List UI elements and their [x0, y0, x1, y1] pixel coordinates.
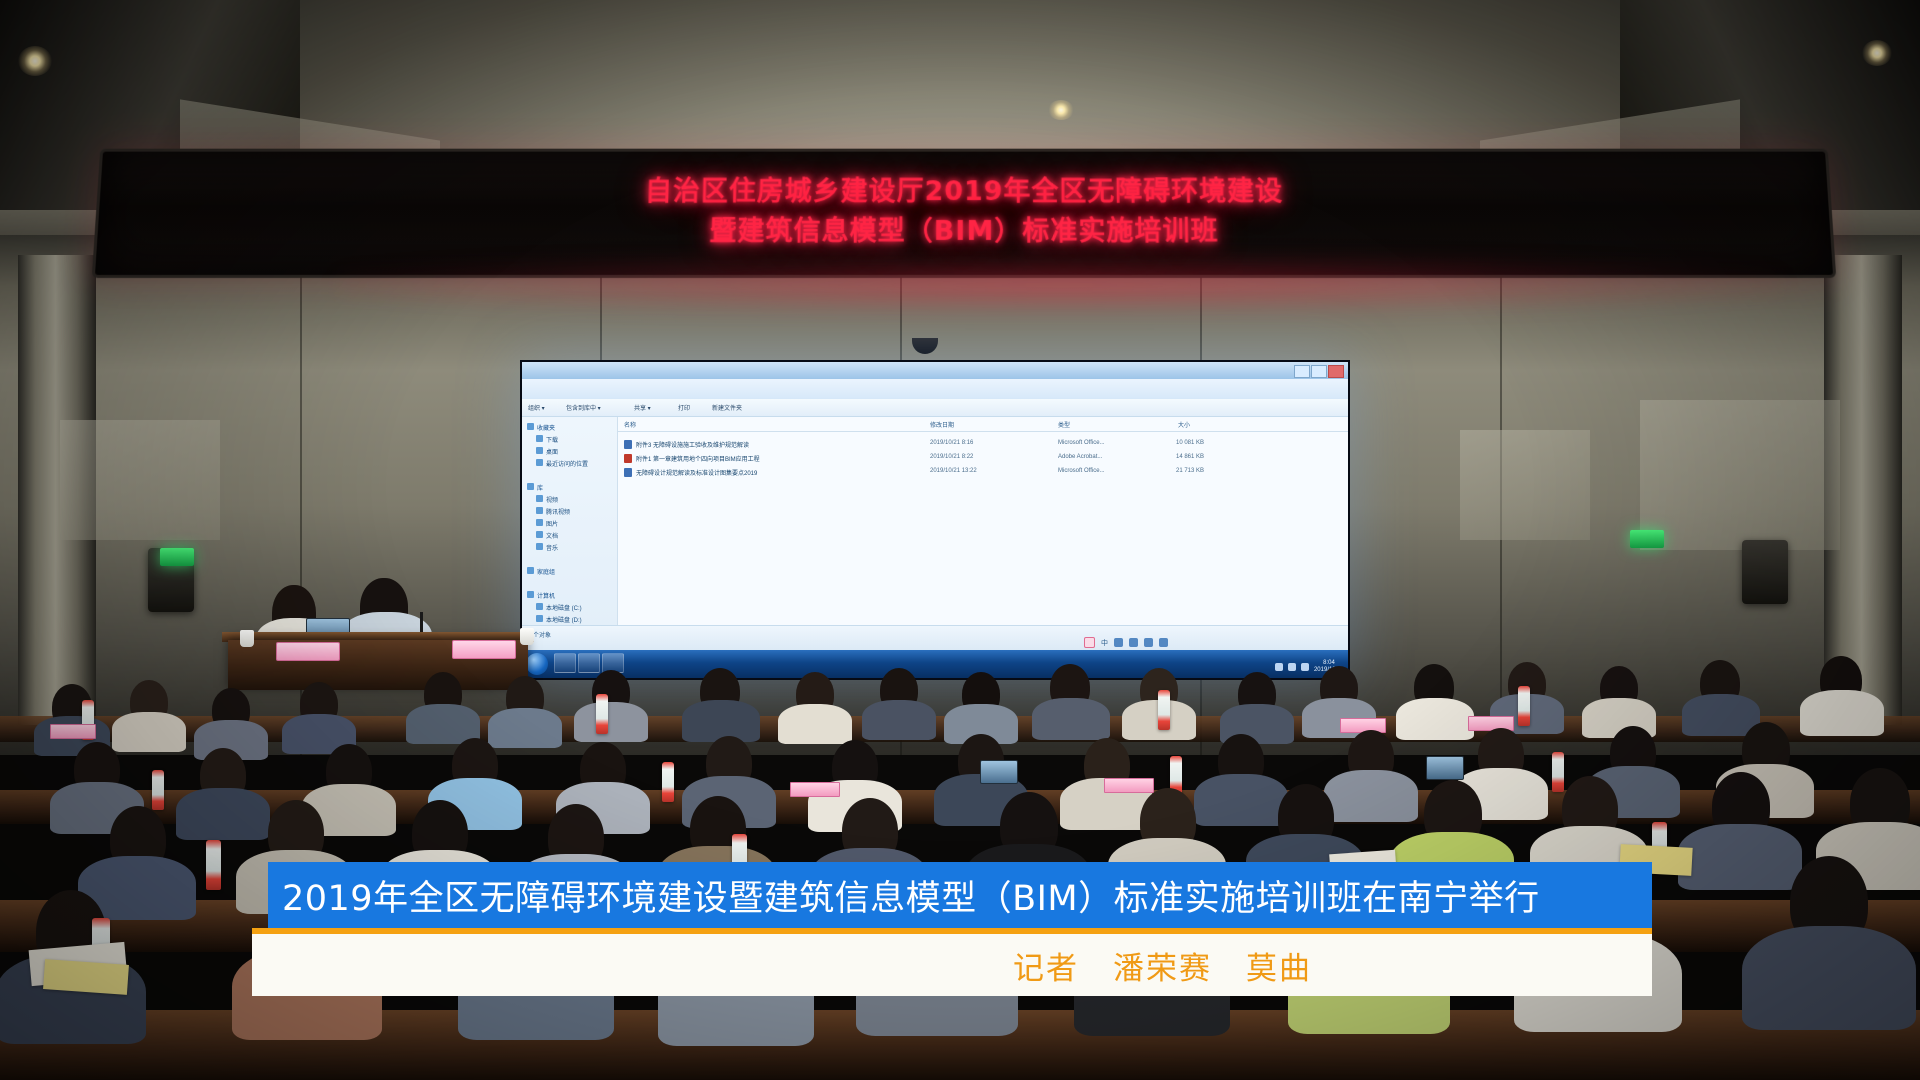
led-banner-line1: 自治区住房城乡建设厅2019年全区无障碍环境建设 — [99, 169, 1828, 208]
file-type: Microsoft Office... — [1058, 468, 1105, 474]
sidebar-item-recent[interactable]: 最近访问的位置 — [546, 459, 588, 468]
caption-credit-bar: 记者潘荣赛莫曲 — [252, 934, 1652, 996]
caption-headline-bar: 2019年全区无障碍环境建设暨建筑信息模型（BIM）标准实施培训班在南宁举行 — [268, 862, 1652, 928]
systray-group: 中 — [1084, 637, 1168, 648]
tray-network-icon[interactable] — [1275, 663, 1283, 671]
explorer-sidebar: 收藏夹 下载 桌面 最近访问的位置 库 视频 腾讯视频 图片 文档 音乐 — [522, 417, 618, 626]
toolbar-includelib[interactable]: 包含到库中 ▾ — [566, 403, 601, 412]
attendee-laptop — [1426, 756, 1464, 780]
column-header-size[interactable]: 大小 — [1178, 420, 1190, 429]
audience-body — [488, 708, 562, 748]
water-cup — [520, 628, 534, 645]
water-bottle — [1158, 690, 1170, 730]
reporter-name-1: 潘荣赛 — [1113, 951, 1212, 987]
sidebar-item-tencentvideo[interactable]: 腾讯视频 — [546, 507, 570, 516]
nameplate — [452, 640, 516, 659]
nameplate — [276, 642, 340, 661]
wall-stone-panel — [1460, 430, 1590, 540]
audience-body — [682, 700, 760, 742]
audience-body — [1678, 824, 1802, 890]
audience-body — [778, 704, 852, 744]
audience-body — [1324, 770, 1418, 822]
water-bottle — [662, 762, 674, 802]
toolbar-organize[interactable]: 组织 ▾ — [528, 403, 545, 412]
document-paper — [43, 959, 129, 995]
file-size: 10 081 KB — [1176, 440, 1204, 446]
table-row[interactable]: 附件1 第一章建筑用地个四向项目BIM应用工程 2019/10/21 8:22 … — [624, 453, 1342, 465]
explorer-titlebar — [522, 362, 1348, 379]
projection-screen: 库 组织 ▾ 包含到库中 ▾ 共享 ▾ 打印 新建文件夹 收藏夹 下载 桌面 最… — [520, 360, 1350, 680]
ime-label[interactable]: 中 — [1101, 638, 1108, 648]
exit-sign-icon — [1630, 530, 1664, 548]
file-date: 2019/10/21 13:22 — [930, 468, 977, 474]
file-date: 2019/10/21 8:16 — [930, 440, 973, 446]
table-row[interactable]: 附件3 无障碍设施施工验收及维护规范解读 2019/10/21 8:16 Mic… — [624, 439, 1342, 451]
downlight — [1862, 40, 1892, 66]
wall-stone-panel — [1640, 400, 1840, 550]
wall-stone-panel — [60, 420, 220, 540]
explorer-navbar: 库 — [522, 379, 1348, 400]
table-row[interactable]: 无障碍设计规范解读及标准设计图集要点2019 2019/10/21 13:22 … — [624, 467, 1342, 479]
audience-body — [176, 788, 270, 840]
explorer-toolbar: 组织 ▾ 包含到库中 ▾ 共享 ▾ 打印 新建文件夹 — [522, 399, 1348, 417]
wall-speaker — [1742, 540, 1788, 604]
office-file-icon — [624, 440, 632, 449]
file-name: 无障碍设计规范解读及标准设计图集要点2019 — [636, 468, 757, 477]
explorer-statusbar: 3 个对象 — [522, 625, 1348, 650]
water-bottle — [1518, 686, 1530, 726]
file-type: Adobe Acrobat... — [1058, 454, 1102, 460]
file-name: 附件1 第一章建筑用地个四向项目BIM应用工程 — [636, 454, 760, 463]
water-bottle — [1552, 752, 1564, 792]
led-banner: 自治区住房城乡建设厅2019年全区无障碍环境建设 暨建筑信息模型（BIM）标准实… — [92, 149, 1836, 278]
sidebar-item-drive-d[interactable]: 本地磁盘 (D:) — [546, 615, 582, 624]
column-header-name[interactable]: 名称 — [624, 420, 636, 429]
tray-volume-icon[interactable] — [1288, 663, 1296, 671]
column-header-date[interactable]: 修改日期 — [930, 420, 954, 429]
sidebar-group-libraries[interactable]: 库 — [537, 483, 543, 492]
sidebar-item-downloads[interactable]: 下载 — [546, 435, 558, 444]
audience-body — [112, 712, 186, 752]
file-name: 附件3 无障碍设施施工验收及维护规范解读 — [636, 440, 749, 449]
sidebar-item-documents[interactable]: 文档 — [546, 531, 558, 540]
broadcast-frame: 自治区住房城乡建设厅2019年全区无障碍环境建设 暨建筑信息模型（BIM）标准实… — [0, 0, 1920, 1080]
ime-box-icon[interactable] — [1084, 637, 1095, 648]
tray-icon[interactable] — [1114, 638, 1123, 647]
column-header-type[interactable]: 类型 — [1058, 420, 1070, 429]
water-bottle — [152, 770, 164, 810]
tray-icon[interactable] — [1144, 638, 1153, 647]
tray-action-icon[interactable] — [1301, 663, 1309, 671]
water-bottle — [596, 694, 608, 734]
sidebar-item-music[interactable]: 音乐 — [546, 543, 558, 552]
sidebar-item-videos[interactable]: 视频 — [546, 495, 558, 504]
file-date: 2019/10/21 8:22 — [930, 454, 973, 460]
maximize-icon[interactable] — [1311, 365, 1327, 378]
audience-body — [1800, 690, 1884, 736]
file-size: 21 713 KB — [1176, 468, 1204, 474]
caption-credit: 记者潘荣赛莫曲 — [1013, 943, 1312, 988]
start-button-icon[interactable] — [526, 653, 548, 675]
minimize-icon[interactable] — [1294, 365, 1310, 378]
file-type: Microsoft Office... — [1058, 440, 1105, 446]
reporter-name-2: 莫曲 — [1246, 951, 1312, 987]
close-icon[interactable] — [1328, 365, 1344, 378]
sidebar-item-desktop[interactable]: 桌面 — [546, 447, 558, 456]
office-file-icon — [624, 468, 632, 477]
sidebar-group-homegroup[interactable]: 家庭组 — [537, 567, 555, 576]
attendee-laptop — [980, 760, 1018, 784]
audience-body — [1032, 698, 1110, 740]
audience-body — [862, 700, 936, 740]
taskbar-explorer-icon[interactable] — [578, 653, 600, 673]
sidebar-group-favorites[interactable]: 收藏夹 — [537, 423, 555, 432]
audience-body — [1742, 926, 1916, 1030]
tray-icon[interactable] — [1159, 638, 1168, 647]
audience-body — [574, 702, 648, 742]
downlight — [18, 46, 52, 76]
explorer-file-list: 名称 修改日期 类型 大小 附件3 无障碍设施施工验收及维护规范解读 2019/… — [618, 417, 1348, 626]
sidebar-item-drive-c[interactable]: 本地磁盘 (C:) — [546, 603, 582, 612]
downlight — [1048, 100, 1074, 120]
file-size: 14 861 KB — [1176, 454, 1204, 460]
toolbar-print[interactable]: 打印 — [678, 403, 690, 412]
exit-sign-icon — [160, 548, 194, 566]
desk-nameplate — [790, 782, 840, 797]
sidebar-group-computer[interactable]: 计算机 — [537, 591, 555, 600]
desk-nameplate — [1104, 778, 1154, 793]
sidebar-item-pictures[interactable]: 图片 — [546, 519, 558, 528]
water-cup — [240, 630, 254, 647]
audience-body — [1396, 698, 1474, 740]
audience-body — [1194, 774, 1288, 826]
led-banner-line2: 暨建筑信息模型（BIM）标准实施培训班 — [97, 209, 1832, 248]
toolbar-newfolder[interactable]: 新建文件夹 — [712, 403, 742, 412]
pdf-file-icon — [624, 454, 632, 463]
toolbar-share[interactable]: 共享 ▾ — [634, 403, 651, 412]
taskbar-ie-icon[interactable] — [554, 653, 576, 673]
caption-headline: 2019年全区无障碍环境建设暨建筑信息模型（BIM）标准实施培训班在南宁举行 — [282, 870, 1540, 921]
tray-icon[interactable] — [1129, 638, 1138, 647]
credit-label: 记者 — [1013, 951, 1079, 987]
led-glow — [334, 255, 1785, 315]
windows-taskbar: 8:04 2019/10/21 — [522, 650, 1348, 678]
desk-nameplate — [50, 724, 96, 739]
projected-desktop: 库 组织 ▾ 包含到库中 ▾ 共享 ▾ 打印 新建文件夹 收藏夹 下载 桌面 最… — [522, 362, 1348, 678]
water-bottle — [206, 840, 221, 890]
